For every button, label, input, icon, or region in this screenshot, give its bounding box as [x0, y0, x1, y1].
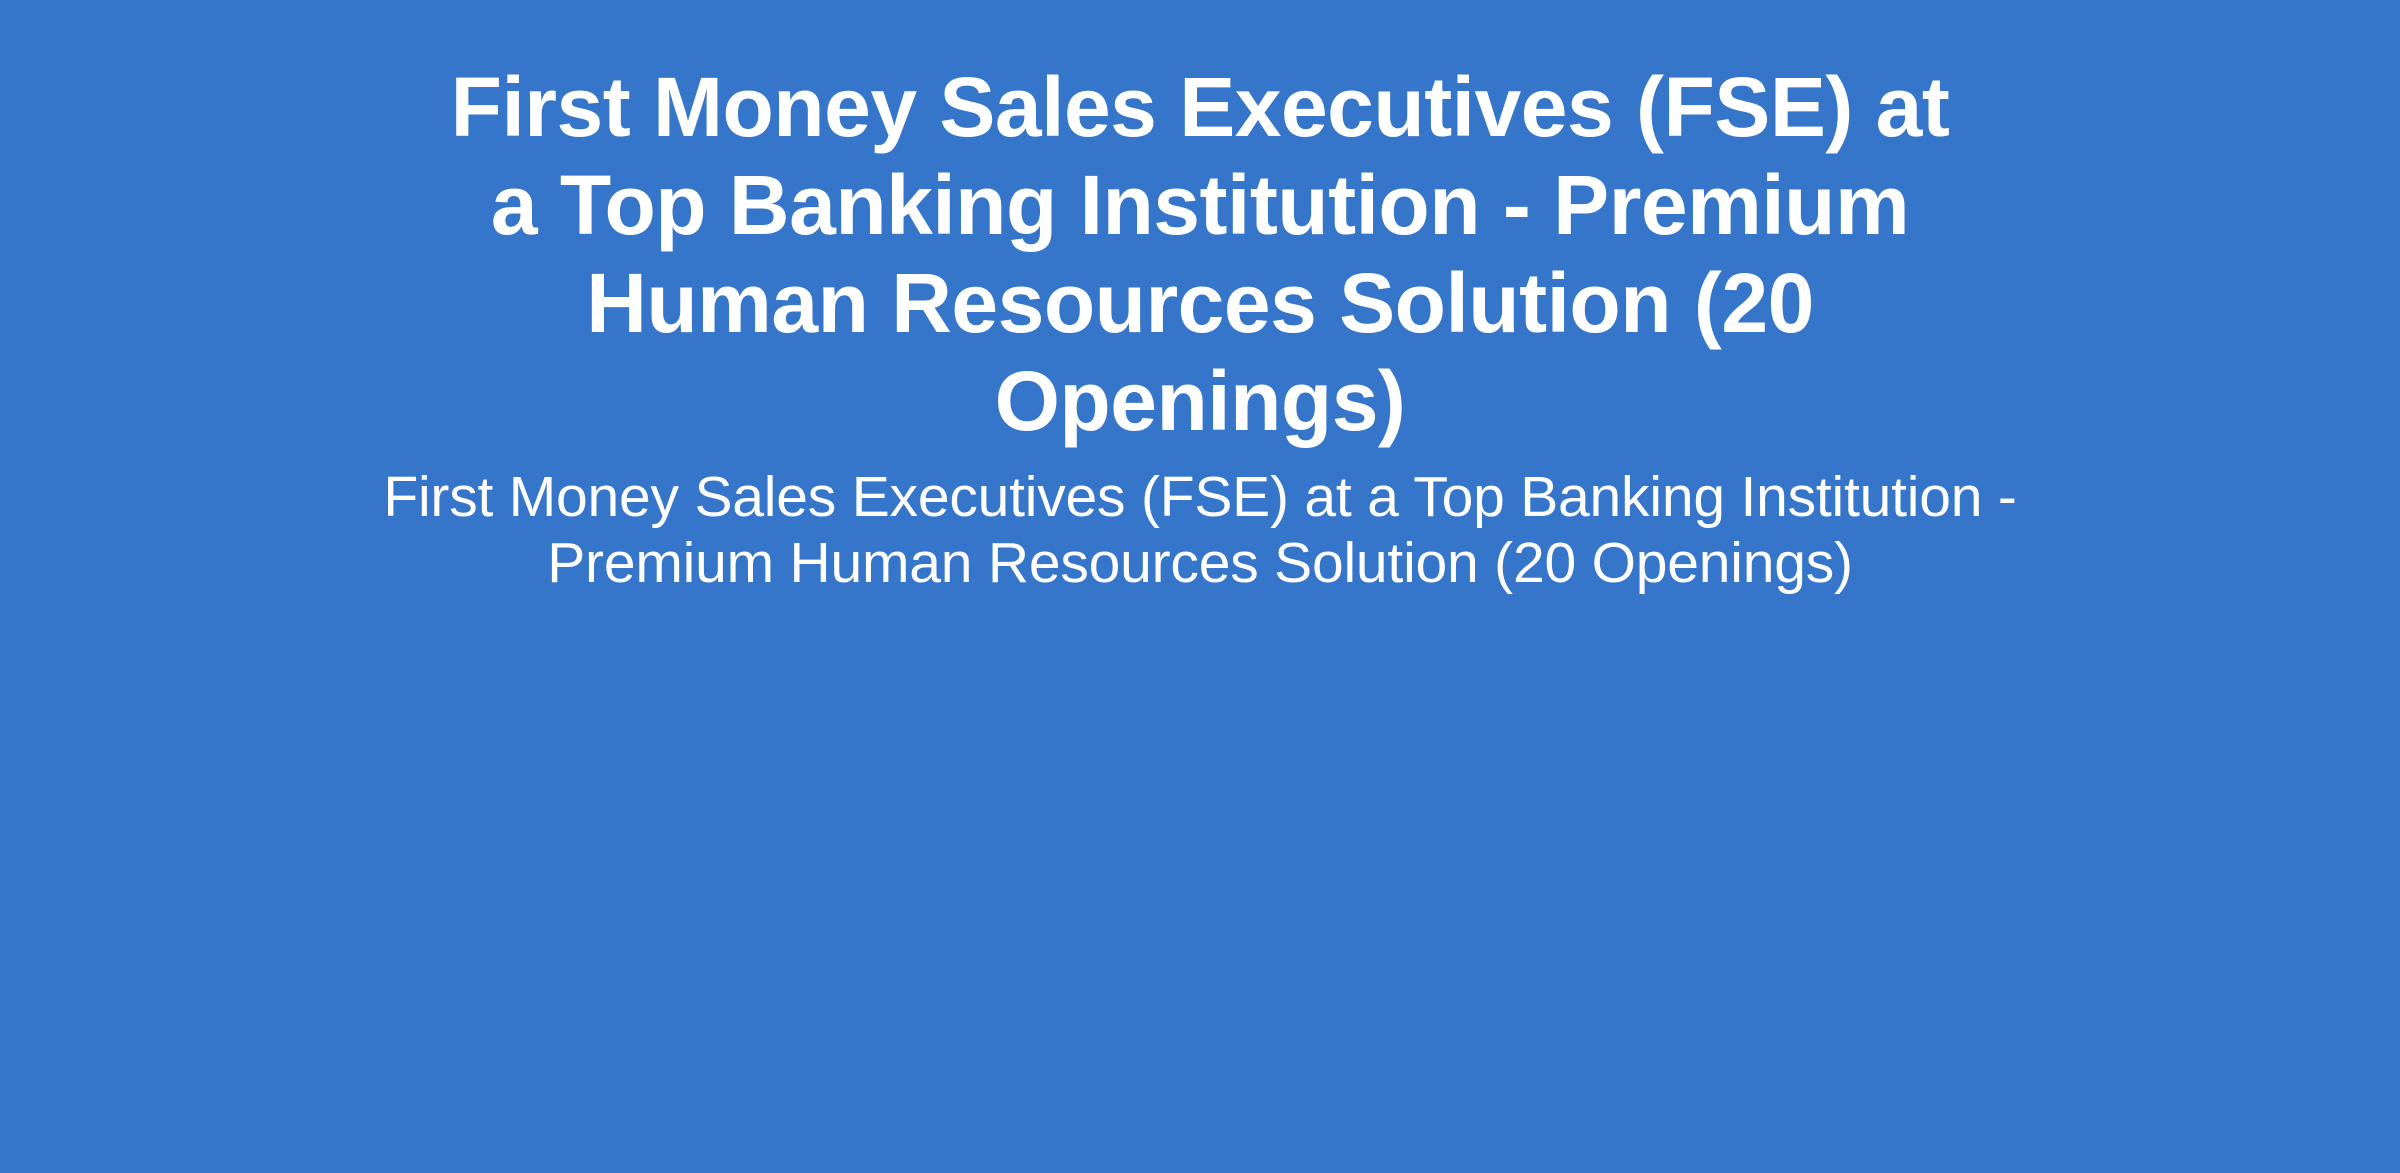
share-banner-card: First Money Sales Executives (FSE) at a … [0, 0, 2400, 1173]
page-title: First Money Sales Executives (FSE) at a … [435, 58, 1965, 450]
page-subtitle: First Money Sales Executives (FSE) at a … [320, 464, 2080, 596]
